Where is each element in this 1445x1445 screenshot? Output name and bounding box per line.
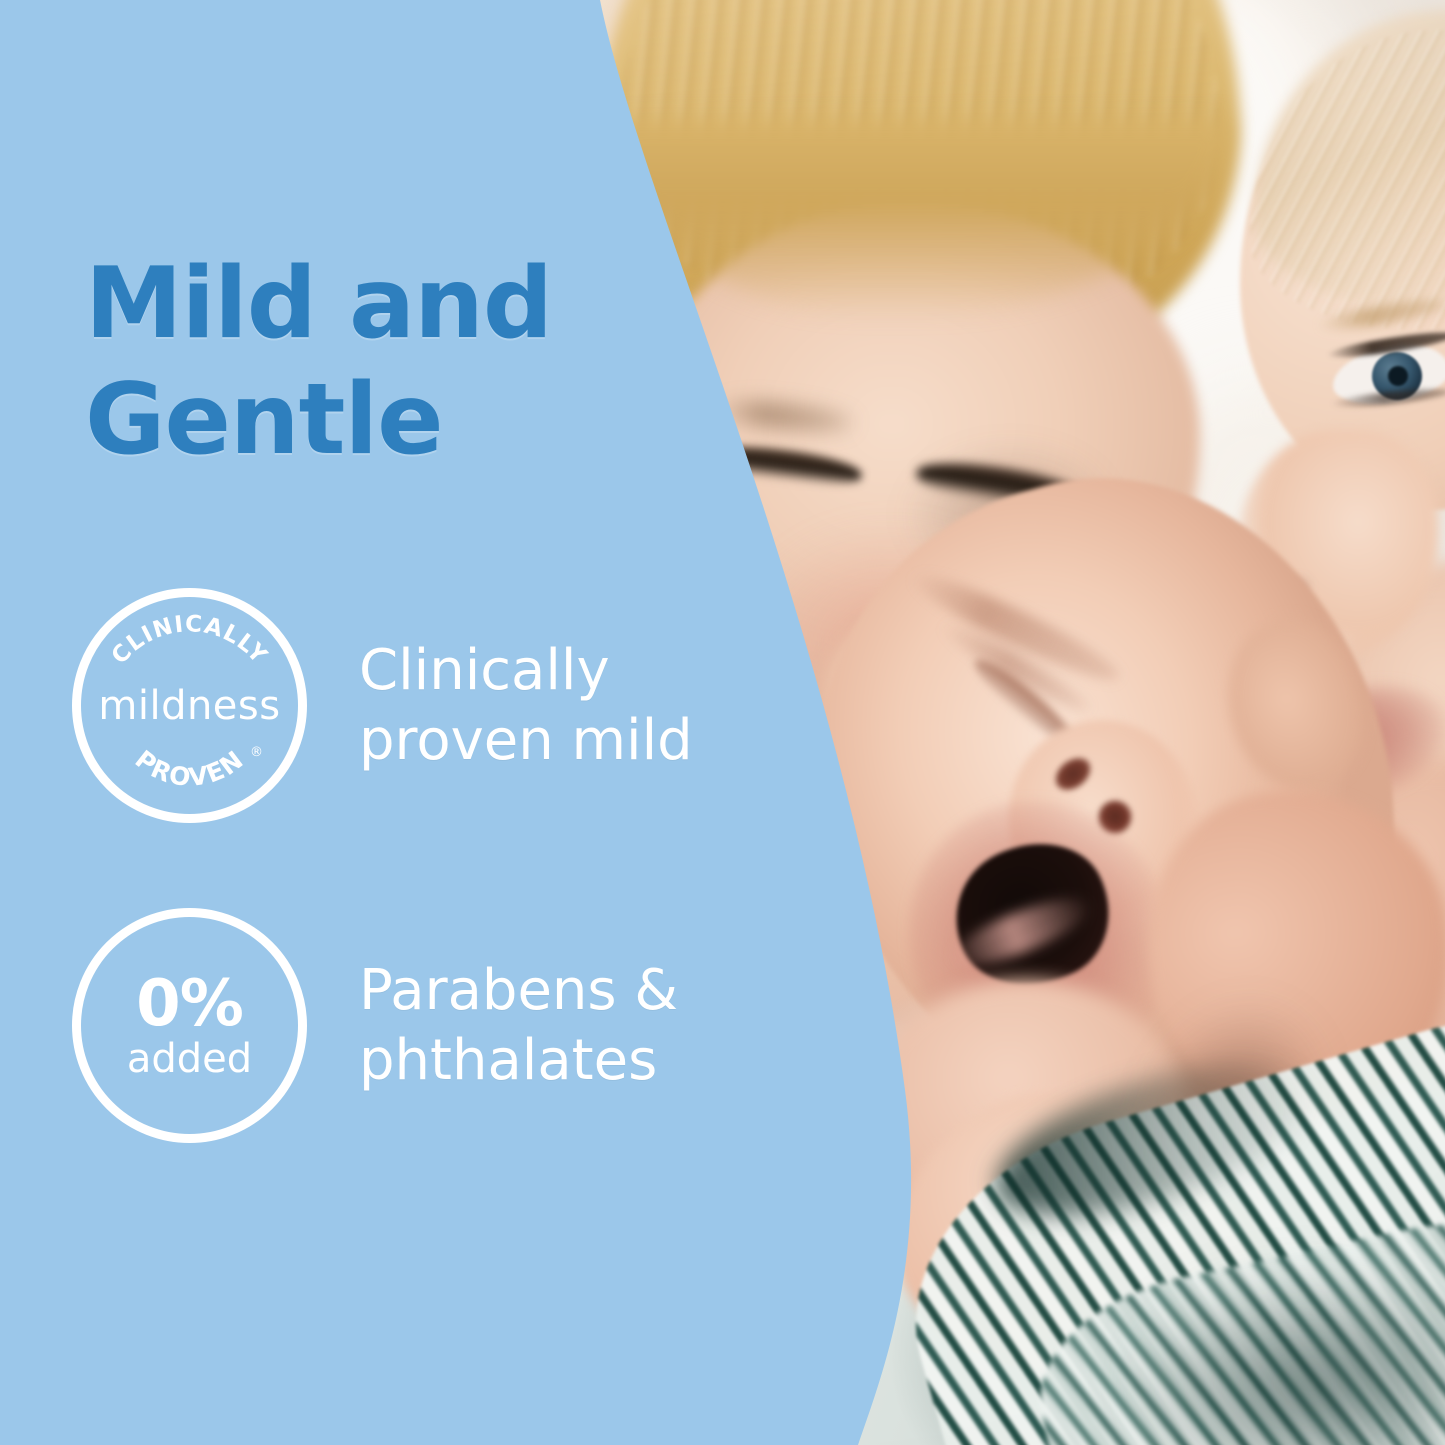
claim-text-clinically-proven: Clinically proven mild	[359, 636, 693, 775]
registered-mark: ®	[250, 745, 263, 760]
badge-arc-top-text: CLINICALLY	[107, 611, 273, 669]
badge-added-label: added	[72, 1038, 307, 1080]
claim-line-2: proven mild	[359, 708, 693, 773]
badge-arc-bottom-text: PROVEN	[130, 744, 250, 792]
badge-center-text: mildness	[72, 683, 307, 729]
claim-line-1: Clinically	[359, 638, 610, 703]
claim-row-zero-added: 0% added Parabens & phthalates	[72, 908, 772, 1143]
claim-text-parabens-phthalates: Parabens & phthalates	[359, 956, 678, 1095]
claim-row-clinically-proven: CLINICALLY PROVEN ® mildness Clinically …	[72, 588, 772, 823]
badge-center-text: 0% added	[72, 972, 307, 1080]
product-feature-banner: Mild andGentle CLINICALLY PROVEN ®	[0, 0, 1445, 1445]
panel-content: Mild andGentle CLINICALLY PROVEN ®	[0, 0, 640, 1445]
clinically-proven-mildness-badge: CLINICALLY PROVEN ® mildness	[72, 588, 307, 823]
profile-child-pupil	[1388, 366, 1408, 386]
page-title: Mild andGentle	[85, 247, 625, 478]
claim-line-1: Parabens &	[359, 958, 678, 1023]
svg-text:PROVEN: PROVEN	[130, 744, 250, 792]
claim-line-2: phthalates	[359, 1028, 657, 1093]
zero-percent-added-badge: 0% added	[72, 908, 307, 1143]
badge-percent-value: 0%	[72, 972, 307, 1036]
svg-text:CLINICALLY: CLINICALLY	[107, 611, 273, 669]
